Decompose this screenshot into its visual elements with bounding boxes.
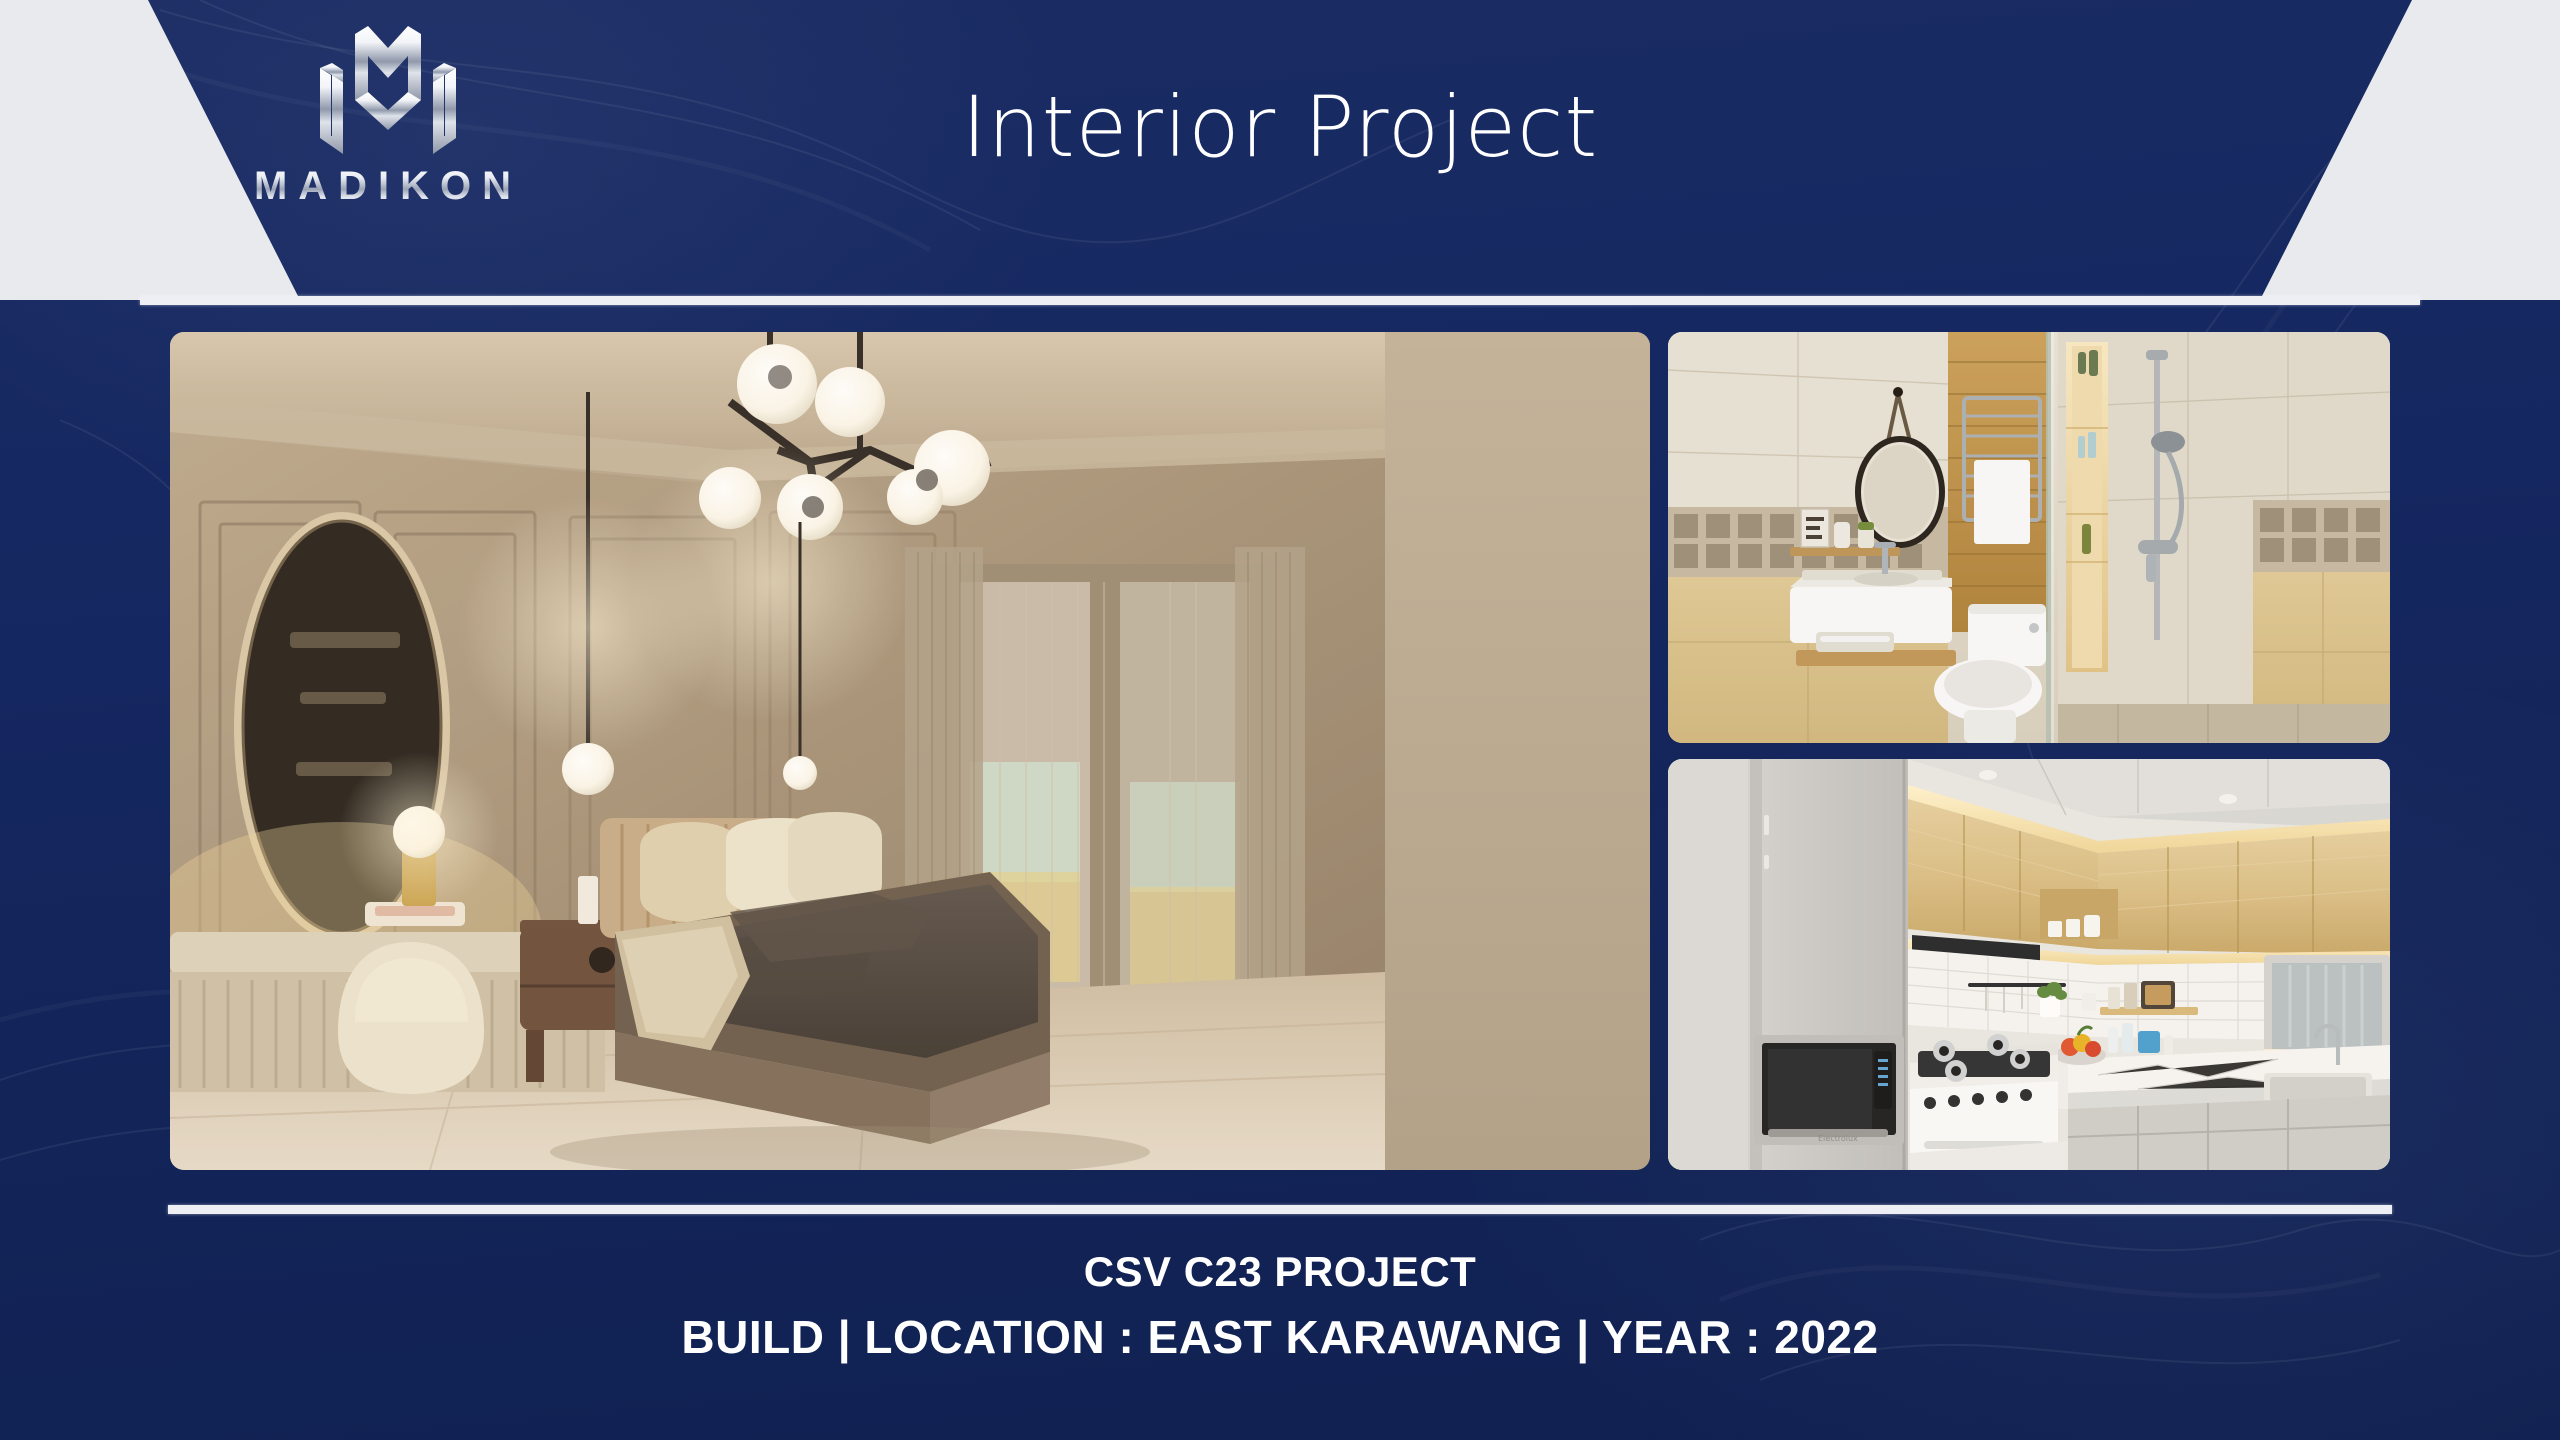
page-title: Interior Project (0, 78, 2560, 176)
bathroom-render-image[interactable] (1668, 332, 2390, 743)
slide-footer: CSV C23 PROJECT BUILD | LOCATION : EAST … (0, 1248, 2560, 1364)
bedroom-illustration (170, 332, 1650, 1170)
header-divider-rule (140, 296, 2420, 305)
kitchen-render-image[interactable]: Electrolux (1668, 759, 2390, 1170)
bathroom-illustration (1668, 332, 2390, 743)
slide-header: MADIKON Interior Project (0, 0, 2560, 300)
project-name: CSV C23 PROJECT (0, 1248, 2560, 1296)
project-details: BUILD | LOCATION : EAST KARAWANG | YEAR … (0, 1310, 2560, 1364)
bedroom-render-image[interactable] (170, 332, 1650, 1170)
image-gallery: Electrolux (170, 332, 2390, 1170)
kitchen-illustration: Electrolux (1668, 759, 2390, 1170)
presentation-slide: MADIKON Interior Project (0, 0, 2560, 1440)
footer-divider-rule (168, 1205, 2392, 1214)
